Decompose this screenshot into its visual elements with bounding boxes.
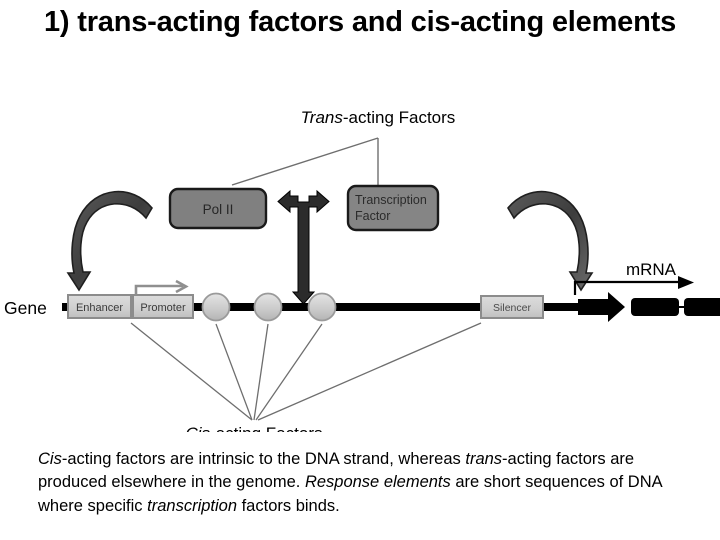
caption-seg1: -acting factors are intrinsic to the DNA… bbox=[62, 450, 466, 468]
gene-regulation-diagram: Trans-acting Factors Pol II Transcriptio… bbox=[0, 96, 720, 432]
diagram-figure: Trans-acting Factors Pol II Transcriptio… bbox=[0, 96, 720, 432]
enhancer-box: Enhancer bbox=[68, 295, 131, 318]
promoter-label: Promoter bbox=[140, 302, 186, 314]
pol2-box: Pol II bbox=[170, 189, 266, 228]
caption-seg1-italic: Cis bbox=[38, 450, 62, 468]
cis-acting-italic: Cis bbox=[186, 424, 211, 432]
cis-circle-1 bbox=[203, 294, 230, 321]
cis-leader-lines bbox=[131, 323, 481, 420]
cis-acting-factors-label: Cis-acting Factors bbox=[186, 424, 323, 432]
transcription-factor-label-line2: Factor bbox=[355, 209, 390, 223]
enhancer-label: Enhancer bbox=[76, 302, 123, 314]
page-title: 1) trans-acting factors and cis-acting e… bbox=[30, 6, 690, 39]
cis-circle-2 bbox=[255, 294, 282, 321]
promoter-box: Promoter bbox=[133, 295, 193, 318]
transcription-factor-box: Transcription Factor bbox=[348, 186, 438, 230]
transcription-start-arrow-icon bbox=[136, 281, 186, 295]
gene-label: Gene bbox=[4, 298, 47, 318]
pol2-label: Pol II bbox=[203, 202, 234, 217]
trans-acting-factors-label: Trans-acting Factors bbox=[301, 108, 456, 127]
caption-seg4-italic: transcription bbox=[147, 497, 237, 515]
trans-leader-lines bbox=[232, 138, 378, 188]
curved-arrow-right-icon bbox=[508, 192, 592, 290]
transcription-factor-label-line1: Transcription bbox=[355, 193, 427, 207]
cis-element-circles bbox=[203, 294, 336, 321]
caption-text: Cis-acting factors are intrinsic to the … bbox=[38, 448, 698, 518]
caption-seg2-italic: trans bbox=[465, 450, 502, 468]
cis-circle-3 bbox=[309, 294, 336, 321]
silencer-label: Silencer bbox=[493, 302, 531, 314]
caption-seg3-italic: Response elements bbox=[305, 473, 451, 491]
exon-start-arrow bbox=[578, 292, 625, 322]
exon-block-1 bbox=[631, 298, 679, 316]
caption-seg4: factors binds. bbox=[237, 497, 340, 515]
silencer-box: Silencer bbox=[481, 296, 543, 318]
curved-arrow-left-icon bbox=[68, 192, 152, 290]
cis-acting-rest: -acting Factors bbox=[210, 424, 322, 432]
exon-block-2 bbox=[684, 298, 720, 316]
trans-acting-rest: -acting Factors bbox=[343, 108, 455, 127]
bidirectional-arrow-icon bbox=[278, 191, 329, 304]
trans-acting-italic: Trans bbox=[301, 108, 344, 127]
transcribed-region bbox=[578, 292, 720, 322]
mrna-label: mRNA bbox=[626, 260, 677, 279]
